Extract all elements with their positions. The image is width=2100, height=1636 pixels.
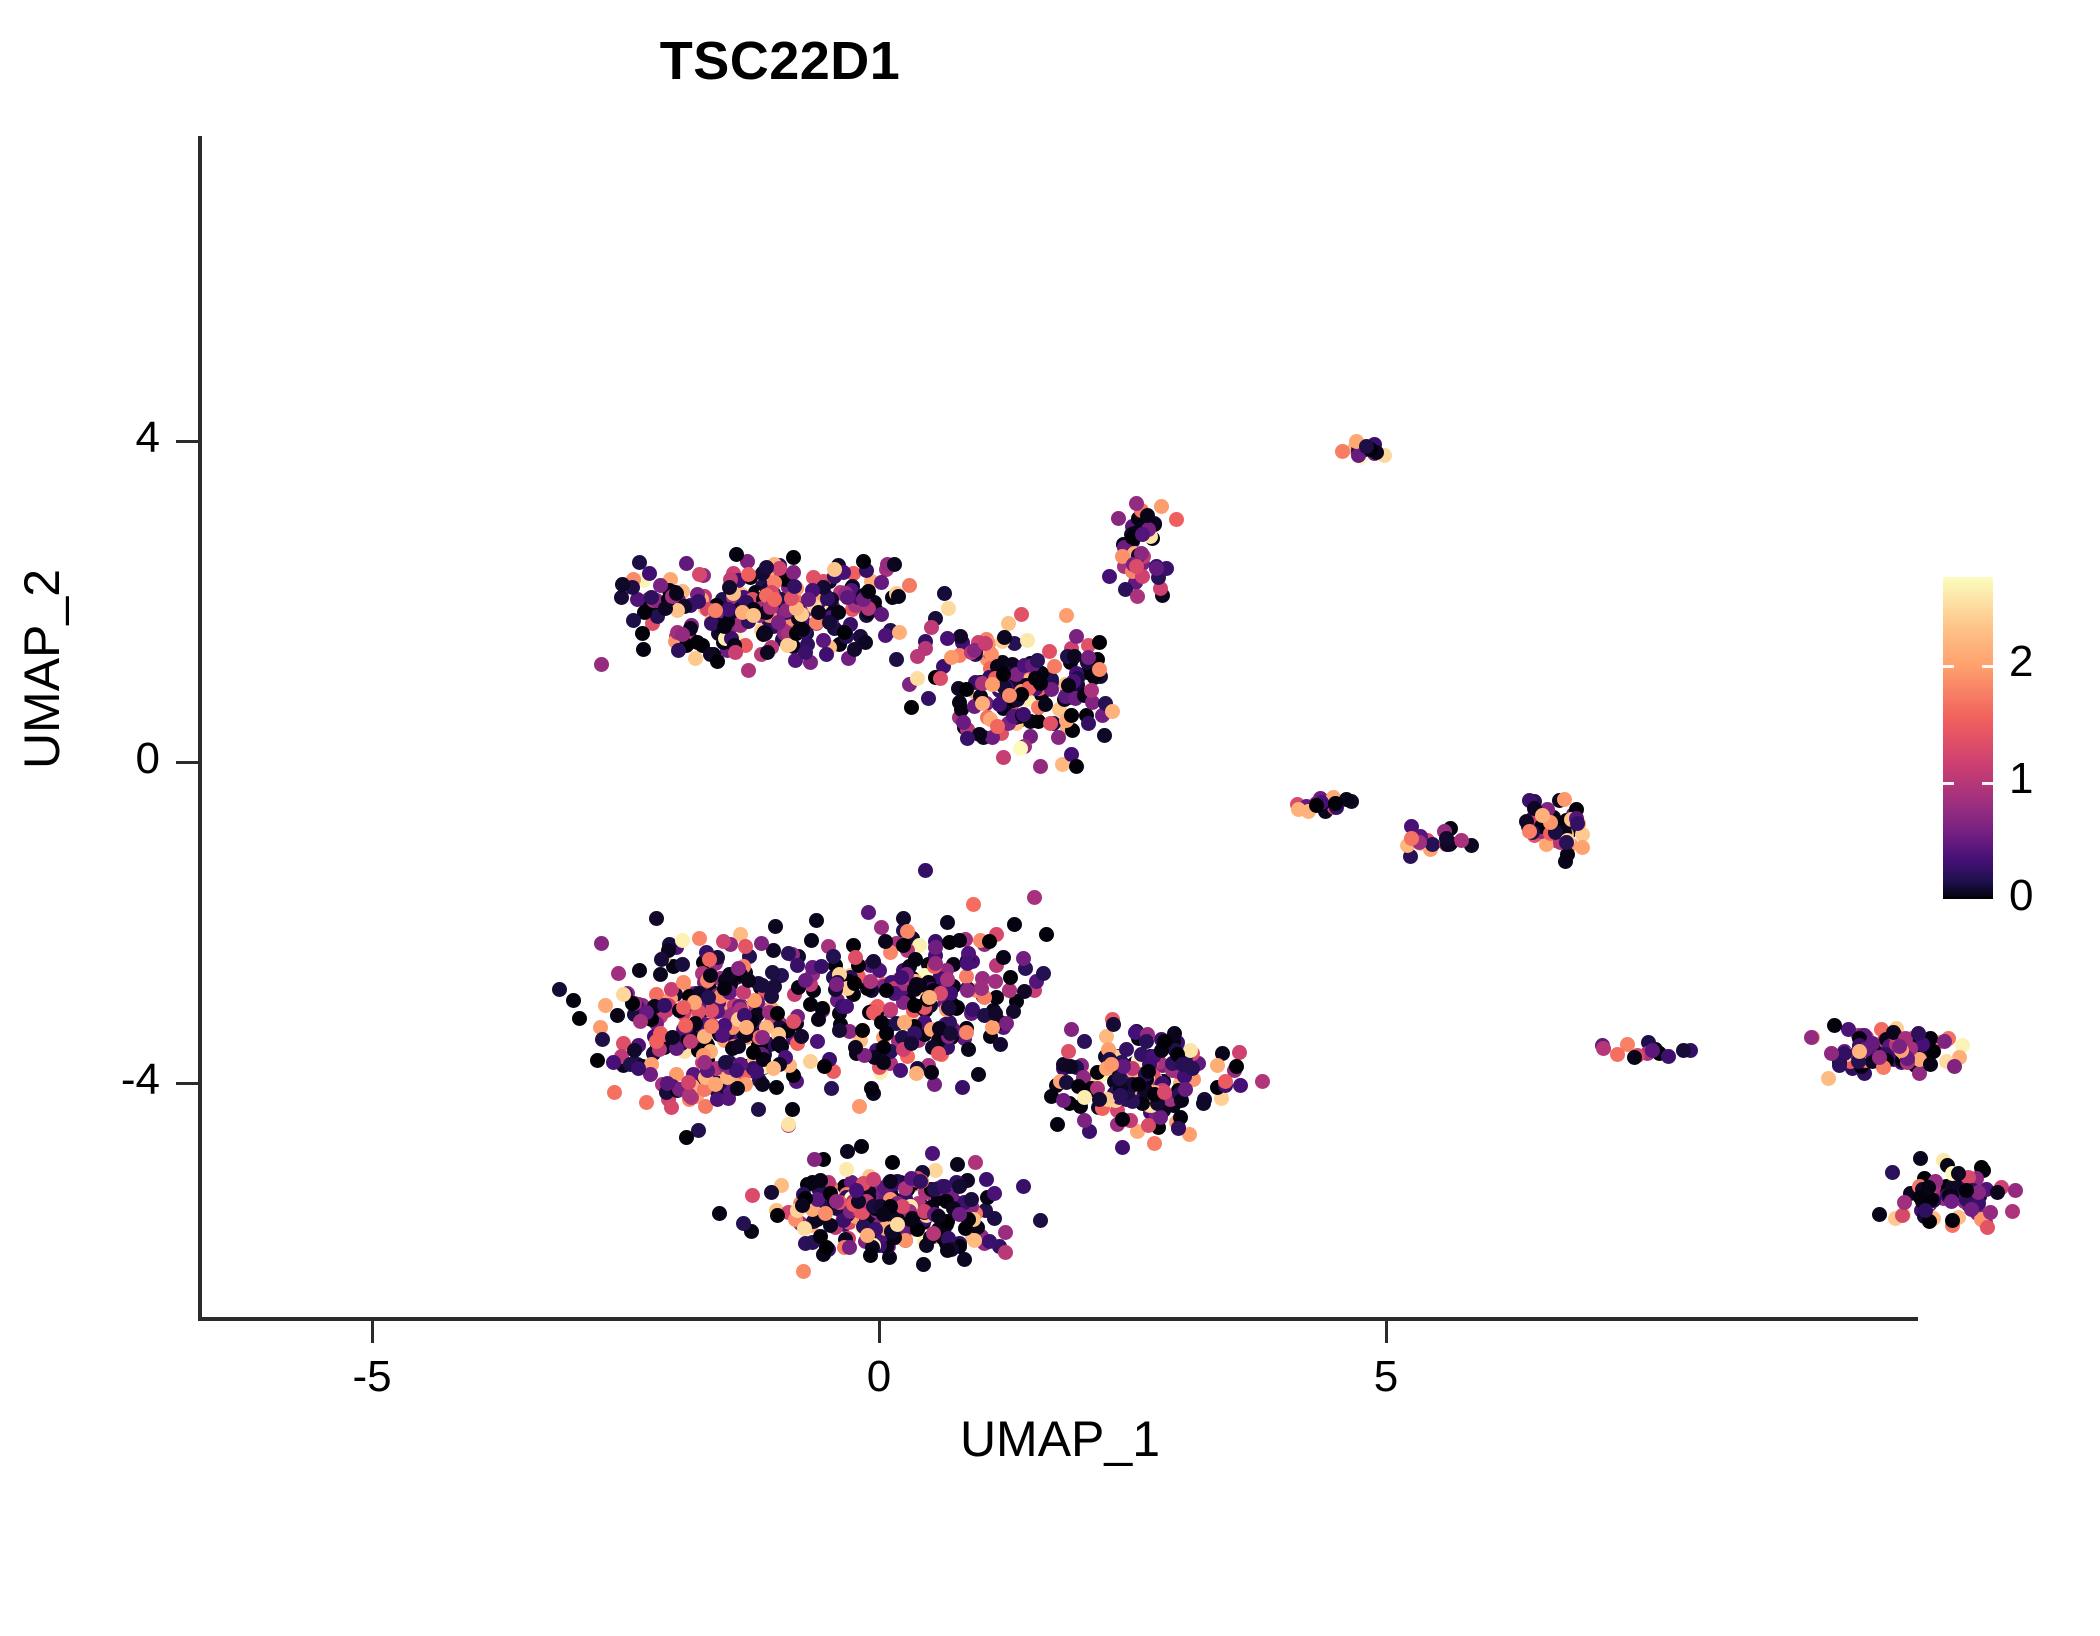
- scatter-point: [764, 1001, 779, 1016]
- scatter-point: [1123, 1079, 1138, 1094]
- scatter-point: [727, 638, 742, 653]
- scatter-point: [828, 958, 843, 973]
- scatter-point: [1310, 796, 1325, 811]
- scatter-point: [709, 598, 724, 613]
- scatter-point: [1064, 708, 1079, 723]
- scatter-point: [1351, 448, 1366, 463]
- scatter-point: [1963, 1197, 1978, 1212]
- scatter-point: [1569, 811, 1584, 826]
- scatter-point: [749, 1028, 764, 1043]
- scatter-point: [1182, 1044, 1197, 1059]
- scatter-point: [897, 1196, 912, 1211]
- scatter-point: [652, 1042, 667, 1057]
- scatter-point: [692, 986, 707, 1001]
- scatter-point: [1353, 450, 1368, 465]
- scatter-point: [1227, 1063, 1242, 1078]
- scatter-point: [644, 1012, 659, 1027]
- scatter-point: [668, 634, 683, 649]
- scatter-point: [1122, 1113, 1137, 1128]
- scatter-point: [931, 1046, 946, 1061]
- scatter-point: [1039, 927, 1054, 942]
- scatter-point: [883, 945, 898, 960]
- scatter-point: [723, 937, 738, 952]
- scatter-point: [921, 691, 936, 706]
- scatter-point: [1974, 1160, 1989, 1175]
- scatter-point: [1117, 540, 1132, 555]
- scatter-point: [884, 1189, 899, 1204]
- scatter-point: [712, 1027, 727, 1042]
- scatter-point: [854, 1139, 869, 1154]
- scatter-point: [896, 970, 911, 985]
- scatter-point: [1880, 1039, 1895, 1054]
- scatter-point: [969, 983, 984, 998]
- scatter-point: [993, 1015, 1008, 1030]
- scatter-point: [741, 663, 756, 678]
- scatter-point: [797, 1221, 812, 1236]
- scatter-point: [1958, 1189, 1973, 1204]
- scatter-point: [1874, 1022, 1889, 1037]
- scatter-point: [664, 1100, 679, 1115]
- scatter-point: [1229, 1059, 1244, 1074]
- scatter-point: [684, 618, 699, 633]
- scatter-point: [1185, 1046, 1200, 1061]
- scatter-point: [955, 1202, 970, 1217]
- scatter-point: [774, 1039, 789, 1054]
- scatter-point: [1535, 808, 1550, 823]
- scatter-point: [885, 1177, 900, 1192]
- scatter-point: [880, 557, 895, 572]
- scatter-point: [890, 1212, 905, 1227]
- scatter-point: [822, 598, 837, 613]
- scatter-point: [552, 982, 567, 997]
- scatter-point: [919, 1238, 934, 1253]
- scatter-point: [1546, 810, 1561, 825]
- scatter-point: [629, 999, 644, 1014]
- scatter-point: [1125, 519, 1140, 534]
- scatter-point: [1117, 559, 1132, 574]
- scatter-point: [794, 1029, 809, 1044]
- scatter-point: [939, 963, 954, 978]
- scatter-point: [902, 959, 917, 974]
- scatter-point: [1147, 1074, 1162, 1089]
- scatter-point: [883, 1056, 898, 1071]
- scatter-point: [880, 1239, 895, 1254]
- scatter-point: [1648, 1042, 1663, 1057]
- scatter-point: [800, 1177, 815, 1192]
- scatter-point: [794, 607, 809, 622]
- scatter-point: [774, 592, 789, 607]
- scatter-point: [1108, 1087, 1123, 1102]
- scatter-point: [881, 1019, 896, 1034]
- scatter-point: [1010, 692, 1025, 707]
- scatter-point: [846, 566, 861, 581]
- scatter-point: [1868, 1052, 1883, 1067]
- scatter-point: [1197, 1092, 1212, 1107]
- scatter-point: [1952, 1050, 1967, 1065]
- scatter-point: [861, 1189, 876, 1204]
- scatter-point: [1130, 1124, 1145, 1139]
- scatter-point: [1129, 1024, 1144, 1039]
- scatter-point: [616, 1058, 631, 1073]
- scatter-point: [691, 998, 706, 1013]
- scatter-point: [806, 983, 821, 998]
- scatter-point: [796, 1187, 811, 1202]
- scatter-point: [866, 1175, 881, 1190]
- scatter-point: [938, 1017, 953, 1032]
- scatter-point: [1079, 708, 1094, 723]
- scatter-point: [804, 933, 819, 948]
- y-axis-label: UMAP_2: [13, 359, 71, 979]
- scatter-point: [781, 626, 796, 641]
- scatter-point: [760, 583, 775, 598]
- scatter-point: [898, 1233, 913, 1248]
- scatter-point: [677, 1022, 692, 1037]
- scatter-point: [722, 1060, 737, 1075]
- scatter-point: [1142, 1088, 1157, 1103]
- scatter-point: [660, 1076, 675, 1091]
- scatter-point: [1025, 658, 1040, 673]
- scatter-point: [903, 1012, 918, 1027]
- scatter-point: [846, 987, 861, 1002]
- colorbar-tick-mark: [1982, 665, 1993, 668]
- scatter-point: [663, 1031, 678, 1046]
- scatter-point: [800, 637, 815, 652]
- scatter-point: [698, 1099, 713, 1114]
- scatter-point: [914, 1198, 929, 1213]
- scatter-point: [1017, 739, 1032, 754]
- scatter-point: [1232, 1045, 1247, 1060]
- scatter-point: [668, 1035, 683, 1050]
- scatter-point: [1944, 1189, 1959, 1204]
- scatter-point: [630, 1057, 645, 1072]
- scatter-point: [1008, 710, 1023, 725]
- scatter-point: [1006, 679, 1021, 694]
- scatter-point: [844, 1175, 859, 1190]
- scatter-point: [1151, 570, 1166, 585]
- scatter-point: [809, 578, 824, 593]
- scatter-point: [683, 986, 698, 1001]
- scatter-point: [917, 1027, 932, 1042]
- scatter-point: [688, 651, 703, 666]
- scatter-point: [741, 598, 756, 613]
- scatter-point: [883, 1199, 898, 1214]
- scatter-point: [770, 1016, 785, 1031]
- scatter-point: [940, 1214, 955, 1229]
- scatter-point: [746, 1061, 761, 1076]
- scatter-point: [925, 1146, 940, 1161]
- scatter-point: [718, 1033, 733, 1048]
- scatter-point: [771, 1027, 786, 1042]
- scatter-point: [1125, 564, 1140, 579]
- scatter-point: [933, 1028, 948, 1043]
- scatter-point: [953, 629, 968, 644]
- scatter-point: [1561, 825, 1576, 840]
- scatter-point: [748, 585, 763, 600]
- scatter-point: [1897, 1046, 1912, 1061]
- scatter-point: [690, 1000, 705, 1015]
- scatter-point: [853, 629, 868, 644]
- scatter-point: [1527, 828, 1542, 843]
- scatter-point: [856, 1194, 871, 1209]
- scatter-point: [626, 613, 641, 628]
- scatter-point: [1951, 1178, 1966, 1193]
- scatter-point: [957, 1252, 972, 1267]
- scatter-point: [864, 983, 879, 998]
- scatter-point: [1034, 687, 1049, 702]
- scatter-point: [860, 1206, 875, 1221]
- scatter-point: [824, 1081, 839, 1096]
- scatter-point: [746, 608, 761, 623]
- scatter-point: [1958, 1184, 1973, 1199]
- scatter-point: [710, 1004, 725, 1019]
- scatter-point: [1329, 800, 1344, 815]
- scatter-point: [1169, 1115, 1184, 1130]
- scatter-point: [635, 626, 650, 641]
- scatter-point: [679, 626, 694, 641]
- scatter-point: [917, 968, 932, 983]
- scatter-point: [788, 599, 803, 614]
- scatter-point: [907, 1019, 922, 1034]
- scatter-point: [772, 1036, 787, 1051]
- scatter-point: [679, 1030, 694, 1045]
- scatter-point: [668, 585, 683, 600]
- scatter-point: [904, 700, 919, 715]
- scatter-point: [1922, 1197, 1937, 1212]
- scatter-point: [941, 1000, 956, 1015]
- scatter-point: [988, 671, 1003, 686]
- scatter-point: [928, 934, 943, 949]
- scatter-point: [895, 1030, 910, 1045]
- scatter-point: [897, 976, 912, 991]
- scatter-point: [633, 1014, 648, 1029]
- scatter-point: [632, 963, 647, 978]
- scatter-point: [688, 1016, 703, 1031]
- scatter-point: [1575, 840, 1590, 855]
- scatter-point: [965, 1217, 980, 1232]
- scatter-point: [1115, 1112, 1130, 1127]
- scatter-point: [728, 1035, 743, 1050]
- scatter-point: [996, 950, 1011, 965]
- scatter-point: [697, 1078, 712, 1093]
- scatter-point: [1173, 1110, 1188, 1125]
- scatter-point: [666, 959, 681, 974]
- scatter-point: [789, 581, 804, 596]
- scatter-point: [1144, 1055, 1159, 1070]
- scatter-point: [917, 1205, 932, 1220]
- scatter-point: [1170, 1064, 1185, 1079]
- scatter-point: [708, 956, 723, 971]
- scatter-point: [1169, 512, 1184, 527]
- scatter-point: [1026, 661, 1041, 676]
- scatter-point: [1124, 527, 1139, 542]
- scatter-point: [785, 1102, 800, 1117]
- scatter-point: [639, 1005, 654, 1020]
- scatter-point: [1100, 1092, 1115, 1107]
- scatter-point: [1652, 1046, 1667, 1061]
- scatter-point: [1413, 836, 1428, 851]
- scatter-point: [764, 1015, 779, 1030]
- scatter-point: [897, 1224, 912, 1239]
- scatter-point: [931, 1209, 946, 1224]
- scatter-point: [858, 1217, 873, 1232]
- plot-panel: [200, 136, 1920, 1316]
- scatter-point: [1526, 810, 1541, 825]
- scatter-point: [822, 640, 837, 655]
- scatter-point: [898, 1191, 913, 1206]
- scatter-point: [998, 1225, 1013, 1240]
- scatter-point: [974, 1229, 989, 1244]
- scatter-point: [961, 946, 976, 961]
- scatter-point: [977, 1236, 992, 1251]
- scatter-point: [1137, 1086, 1152, 1101]
- scatter-point: [1038, 697, 1053, 712]
- scatter-point: [1895, 1208, 1910, 1223]
- scatter-point: [806, 570, 821, 585]
- scatter-point: [872, 963, 887, 978]
- scatter-point: [946, 979, 961, 994]
- scatter-point: [791, 611, 806, 626]
- scatter-point: [899, 967, 914, 982]
- scatter-point: [894, 970, 909, 985]
- scatter-point: [756, 627, 771, 642]
- scatter-point: [848, 1040, 863, 1055]
- scatter-point: [764, 1185, 779, 1200]
- scatter-point: [967, 699, 982, 714]
- scatter-point: [708, 1077, 723, 1092]
- scatter-point: [1921, 1180, 1936, 1195]
- scatter-point: [1030, 653, 1045, 668]
- scatter-point: [1912, 1066, 1927, 1081]
- scatter-point: [821, 1175, 836, 1190]
- scatter-point: [1043, 716, 1058, 731]
- scatter-point: [791, 980, 806, 995]
- scatter-point: [767, 592, 782, 607]
- scatter-point: [1926, 1193, 1941, 1208]
- scatter-point: [847, 976, 862, 991]
- scatter-point: [1149, 1078, 1164, 1093]
- scatter-point: [750, 995, 765, 1010]
- scatter-point: [907, 982, 922, 997]
- scatter-point: [1105, 704, 1120, 719]
- scatter-point: [782, 614, 797, 629]
- scatter-point: [860, 1228, 875, 1243]
- scatter-point: [1877, 1051, 1892, 1066]
- scatter-point: [728, 1003, 743, 1018]
- scatter-point: [964, 1199, 979, 1214]
- scatter-point: [674, 1036, 689, 1051]
- scatter-point: [1917, 1171, 1932, 1186]
- scatter-point: [1299, 799, 1314, 814]
- scatter-point: [1140, 508, 1155, 523]
- scatter-point: [1098, 1049, 1113, 1064]
- scatter-point: [1128, 1060, 1143, 1075]
- scatter-point: [700, 602, 715, 617]
- scatter-point: [1971, 1196, 1986, 1211]
- scatter-point: [859, 608, 874, 623]
- scatter-point: [1015, 708, 1030, 723]
- scatter-point: [859, 1211, 874, 1226]
- scatter-point: [742, 599, 757, 614]
- scatter-point: [1900, 1055, 1915, 1070]
- scatter-point: [1185, 1061, 1200, 1076]
- scatter-point: [1173, 1076, 1188, 1091]
- scatter-point: [1107, 1086, 1122, 1101]
- scatter-point: [1016, 951, 1031, 966]
- scatter-point: [1014, 684, 1029, 699]
- scatter-point: [911, 1033, 926, 1048]
- scatter-point: [1852, 1031, 1867, 1046]
- scatter-point: [751, 976, 766, 991]
- scatter-point: [1031, 676, 1046, 691]
- scatter-point: [1125, 1061, 1140, 1076]
- scatter-point: [858, 635, 873, 650]
- scatter-point: [1023, 672, 1038, 687]
- scatter-point: [1065, 723, 1080, 738]
- scatter-point: [733, 618, 748, 633]
- scatter-point: [690, 587, 705, 602]
- scatter-point: [1915, 1190, 1930, 1205]
- scatter-point: [777, 626, 792, 641]
- scatter-point: [910, 1173, 925, 1188]
- scatter-point: [1131, 1077, 1146, 1092]
- scatter-point: [920, 992, 935, 1007]
- scatter-point: [882, 1250, 897, 1265]
- scatter-point: [819, 1188, 834, 1203]
- scatter-point: [873, 1199, 888, 1214]
- scatter-point: [863, 1210, 878, 1225]
- scatter-point: [809, 615, 824, 630]
- scatter-point: [1010, 692, 1025, 707]
- scatter-point: [692, 567, 707, 582]
- scatter-point: [775, 592, 790, 607]
- scatter-point: [930, 990, 945, 1005]
- scatter-point: [883, 1185, 898, 1200]
- scatter-point: [745, 1188, 760, 1203]
- scatter-point: [811, 1181, 826, 1196]
- scatter-point: [1140, 1076, 1155, 1091]
- scatter-point: [884, 975, 899, 990]
- scatter-point: [1003, 686, 1018, 701]
- scatter-point: [986, 1003, 1001, 1018]
- scatter-point: [1888, 1028, 1903, 1043]
- scatter-point: [927, 959, 942, 974]
- scatter-point: [823, 1186, 838, 1201]
- scatter-point: [780, 638, 795, 653]
- scatter-point: [840, 1144, 855, 1159]
- scatter-point: [1215, 1046, 1230, 1061]
- scatter-point: [727, 629, 742, 644]
- scatter-point: [772, 1057, 787, 1072]
- scatter-point: [1149, 1108, 1164, 1123]
- scatter-point: [989, 990, 1004, 1005]
- scatter-point: [616, 987, 631, 1002]
- scatter-point: [736, 1216, 751, 1231]
- scatter-point: [791, 949, 806, 964]
- scatter-point: [1898, 1031, 1913, 1046]
- scatter-point: [1062, 689, 1077, 704]
- scatter-point: [859, 1234, 874, 1249]
- scatter-point: [1095, 1067, 1110, 1082]
- y-tick-mark: [176, 761, 198, 764]
- scatter-point: [918, 1185, 933, 1200]
- scatter-point: [1290, 797, 1305, 812]
- scatter-point: [1525, 825, 1540, 840]
- scatter-point: [994, 726, 1009, 741]
- scatter-point: [653, 1026, 668, 1041]
- scatter-point: [1521, 819, 1536, 834]
- scatter-point: [845, 579, 860, 594]
- scatter-point: [874, 1015, 889, 1030]
